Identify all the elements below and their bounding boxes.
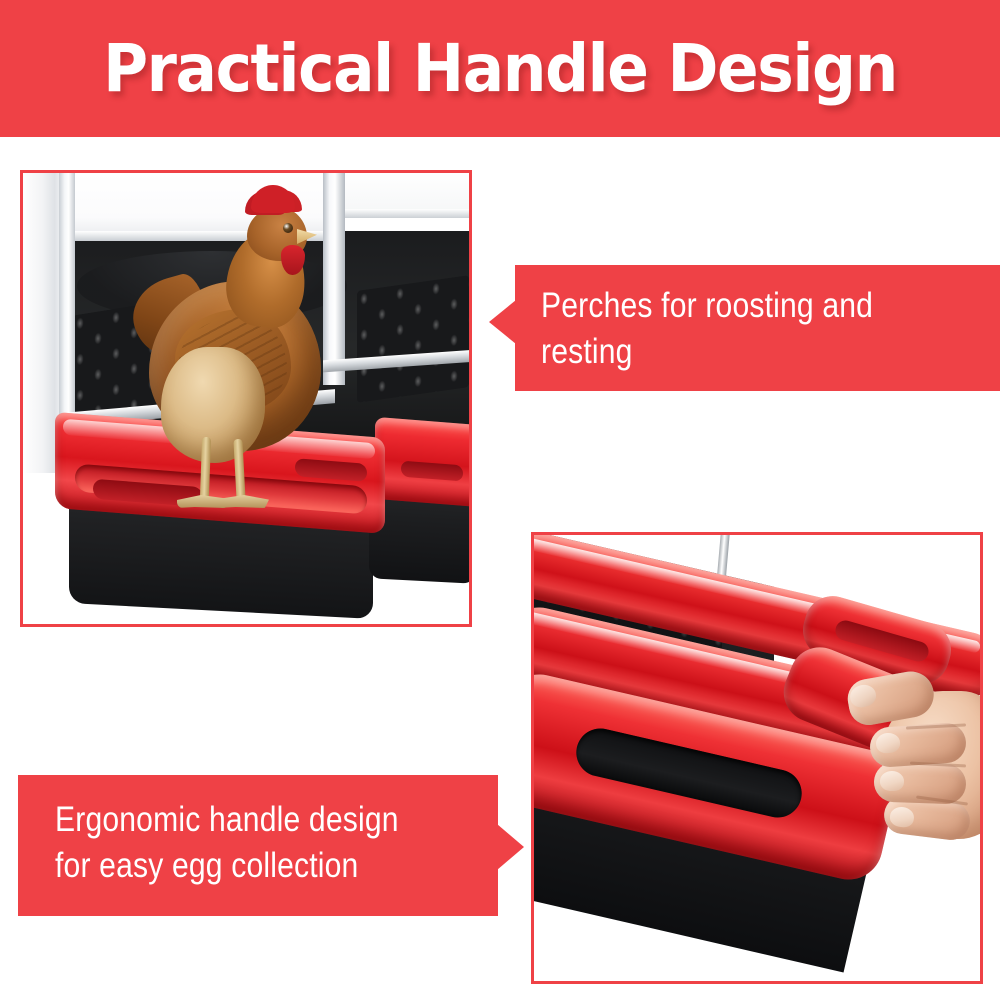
photo-1-content <box>23 173 469 624</box>
brown-hen <box>131 183 351 523</box>
photo-hen-on-perch <box>20 170 472 627</box>
photo-2-content <box>534 535 980 981</box>
hen-eye <box>283 223 293 233</box>
hen-foot-right <box>217 495 269 508</box>
callout-perches-arrow-icon <box>489 300 516 344</box>
callout-handle-arrow-icon <box>497 824 524 870</box>
hen-beak <box>297 229 317 244</box>
perforated-floor-right <box>357 275 469 403</box>
hen-leg-left <box>200 437 211 499</box>
hen-comb <box>251 185 295 213</box>
callout-handle-label: Ergonomic handle design for easy egg col… <box>55 797 436 889</box>
callout-handle: Ergonomic handle design for easy egg col… <box>18 775 498 916</box>
header-banner: Practical Handle Design <box>0 0 1000 137</box>
nest-box-lip-right <box>345 209 469 218</box>
callout-perches: Perches for roosting and resting <box>515 265 1000 391</box>
coop-upper-panel-right <box>345 173 469 211</box>
page-title: Practical Handle Design <box>35 0 965 137</box>
hand-nail-middle <box>880 771 905 792</box>
callout-perches-label: Perches for roosting and resting <box>541 283 936 375</box>
hen-breast <box>161 347 265 463</box>
photo-hand-on-handle <box>531 532 983 984</box>
human-hand <box>834 667 980 857</box>
